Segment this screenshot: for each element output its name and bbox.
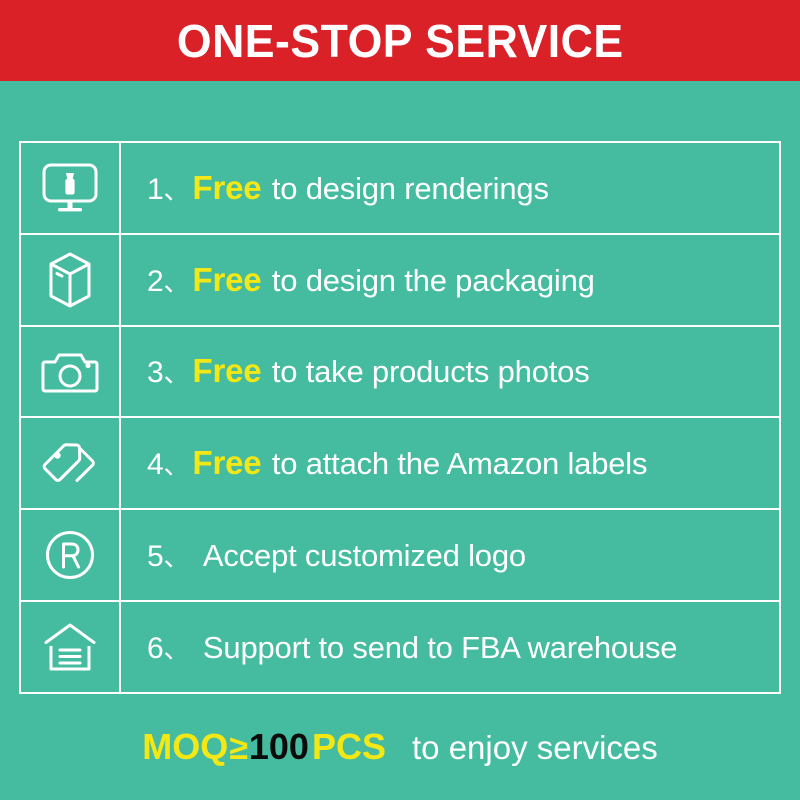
icon-cell [21,510,121,600]
row-separator: 、 [164,542,191,572]
row-label: 2、Free to design the packaging [147,262,595,298]
service-list-table: 1、Free to design renderings 2、Free t [19,141,781,694]
table-row: 6、 Support to send to FBA warehouse [21,602,779,692]
text-cell: 4、Free to attach the Amazon labels [121,418,779,508]
table-row: 4、Free to attach the Amazon labels [21,418,779,510]
row-separator: 、 [164,175,191,205]
row-label: 5、 Accept customized logo [147,537,526,573]
icon-cell [21,418,121,508]
text-cell: 3、Free to take products photos [121,327,779,417]
icon-cell [21,235,121,325]
row-label: 3、Free to take products photos [147,353,590,389]
header-band: ONE-STOP SERVICE [0,0,800,81]
icon-cell [21,327,121,417]
row-rest: to design the packaging [263,263,594,298]
row-highlight: Free [191,169,264,206]
table-row: 1、Free to design renderings [21,143,779,235]
table-row: 2、Free to design the packaging [21,235,779,327]
moq-quantity: 100 [249,726,309,767]
row-rest: Accept customized logo [195,538,526,573]
row-number: 2 [147,265,164,298]
moq-label: MOQ [142,726,228,767]
row-number: 4 [147,448,164,481]
row-rest: to attach the Amazon labels [263,446,647,481]
row-highlight: Free [191,444,264,481]
row-highlight: Free [191,261,264,298]
one-stop-service-poster: ONE-STOP SERVICE 1、Free to design render… [0,0,800,800]
text-cell: 6、 Support to send to FBA warehouse [121,602,779,692]
camera-icon [41,348,99,396]
row-rest: to design renderings [263,171,548,206]
row-label: 1、Free to design renderings [147,170,549,206]
row-rest: to take products photos [263,354,589,389]
moq-footer: MOQ≥100PCSto enjoy services [0,712,800,782]
row-separator: 、 [164,634,191,664]
icon-cell [21,143,121,233]
row-separator: 、 [164,450,191,480]
row-rest: Support to send to FBA warehouse [195,630,678,665]
warehouse-icon [43,622,97,672]
greater-equal-icon: ≥ [228,729,249,767]
table-row: 3、Free to take products photos [21,327,779,419]
row-separator: 、 [164,358,191,388]
text-cell: 2、Free to design the packaging [121,235,779,325]
row-separator: 、 [164,267,191,297]
row-label: 6、 Support to send to FBA warehouse [147,629,677,665]
moq-tail-text: to enjoy services [386,729,658,766]
row-number: 1 [147,173,164,206]
price-tags-icon [41,438,99,488]
table-row: 5、 Accept customized logo [21,510,779,602]
moq-statement: MOQ≥100PCSto enjoy services [142,729,658,765]
page-title: ONE-STOP SERVICE [177,18,624,64]
row-number: 3 [147,356,164,389]
row-highlight: Free [191,352,264,389]
icon-cell [21,602,121,692]
row-number: 6 [147,632,164,665]
row-label: 4、Free to attach the Amazon labels [147,445,647,481]
package-box-icon [47,251,93,309]
moq-unit: PCS [309,726,386,767]
monitor-rendering-icon [41,162,99,214]
registered-trademark-icon [44,529,96,581]
row-number: 5 [147,540,164,573]
text-cell: 1、Free to design renderings [121,143,779,233]
text-cell: 5、 Accept customized logo [121,510,779,600]
